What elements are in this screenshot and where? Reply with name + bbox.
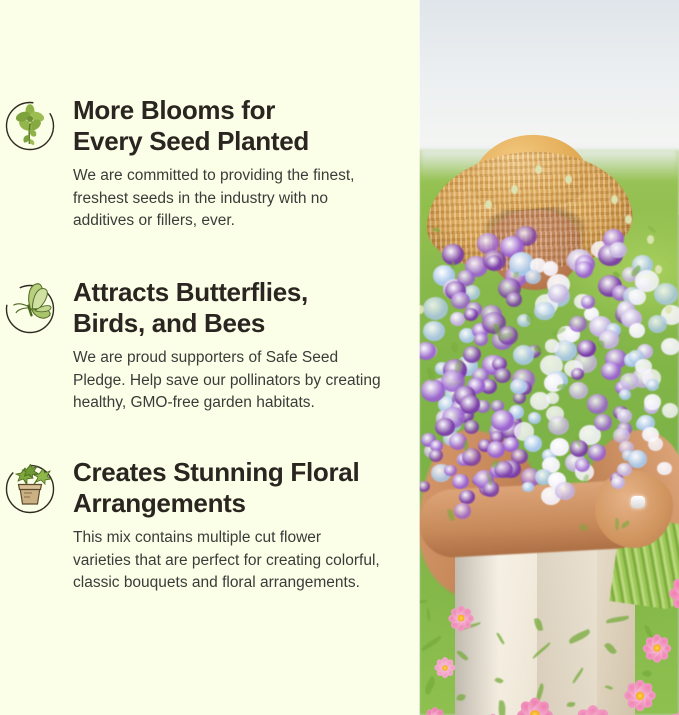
feature-title: Attracts Butterflies, Birds, and Bees (73, 277, 409, 340)
cosmos-flower (642, 633, 673, 664)
cosmos-flower (564, 695, 621, 715)
butterfly-in-circle-icon (2, 279, 58, 335)
cosmos-flower (437, 660, 454, 677)
feature-item-attracts-pollinators: Attracts Butterflies, Birds, and Bees We… (0, 277, 419, 415)
feature-text-block: Creates Stunning Floral Arrangements Thi… (58, 457, 419, 595)
cosmos-flower (449, 606, 474, 631)
feature-text-block: More Blooms for Every Seed Planted We ar… (58, 95, 419, 233)
feature-body: We are proud supporters of Safe Seed Ple… (73, 347, 409, 415)
flower-in-circle-icon (2, 97, 58, 153)
cosmos-flower (662, 567, 679, 620)
potted-plant-in-circle-icon (2, 459, 58, 515)
cosmos-flower (427, 710, 444, 715)
delphinium-bouquet (419, 225, 679, 525)
features-column: More Blooms for Every Seed Planted We ar… (0, 0, 419, 715)
panel-divider (419, 0, 420, 715)
woman-holding-delphinium-bouquet-photo (419, 0, 679, 715)
feature-title: Creates Stunning Floral Arrangements (73, 457, 409, 520)
pink-cosmos-foreground (419, 560, 679, 715)
feature-body: We are committed to providing the finest… (73, 165, 409, 233)
cosmos-flower (511, 691, 560, 715)
feature-item-floral-arrangements: Creates Stunning Floral Arrangements Thi… (0, 457, 419, 595)
cosmos-flower (665, 708, 679, 715)
feature-body: This mix contains multiple cut flower va… (73, 527, 409, 595)
feature-item-more-blooms: More Blooms for Every Seed Planted We ar… (0, 95, 419, 233)
product-feature-panel: More Blooms for Every Seed Planted We ar… (0, 0, 679, 715)
feature-text-block: Attracts Butterflies, Birds, and Bees We… (58, 277, 419, 415)
feature-title: More Blooms for Every Seed Planted (73, 95, 409, 158)
cosmos-flower (621, 677, 658, 714)
